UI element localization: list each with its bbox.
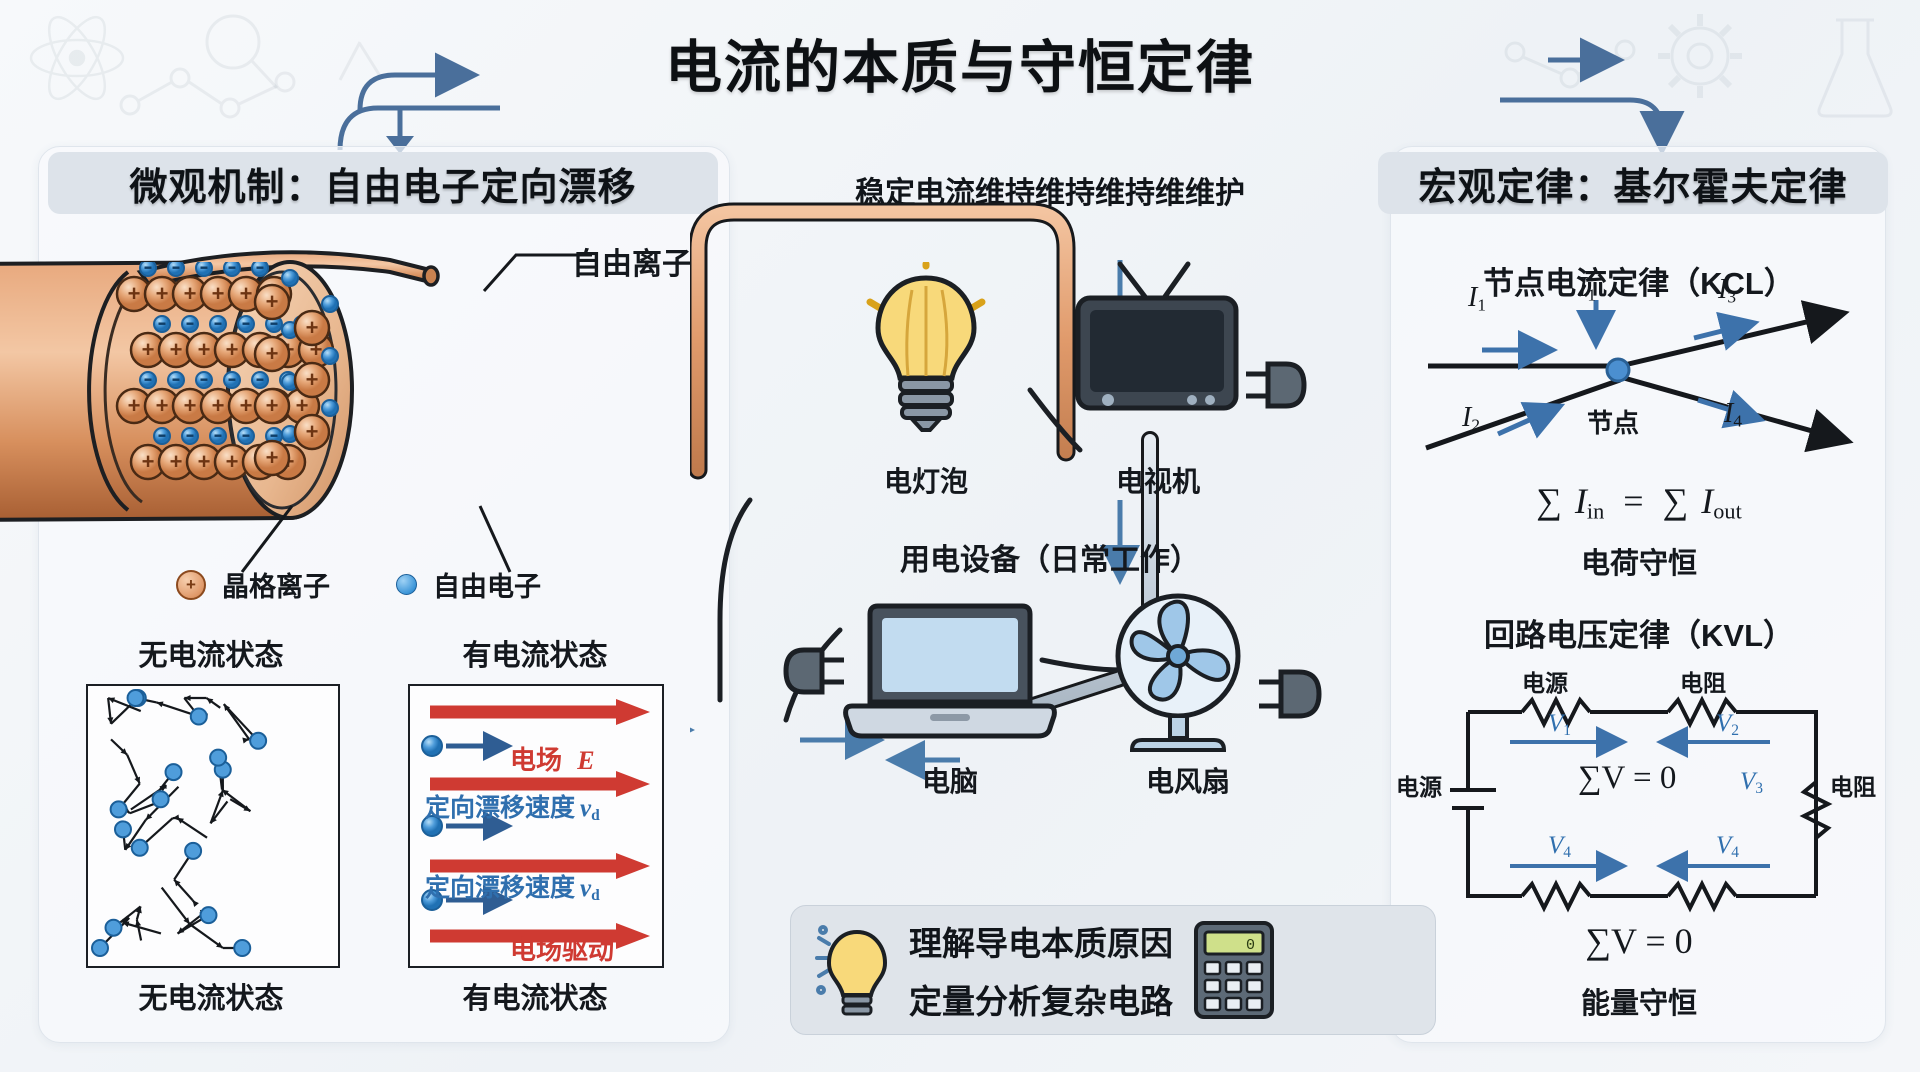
svg-text:+: +	[128, 393, 141, 418]
kvl-formula-inner: ∑V = 0	[1578, 760, 1676, 797]
kcl-node-diagram	[1420, 300, 1860, 470]
left-panel-header: 微观机制：自由电子定向漂移	[48, 152, 718, 214]
svg-text:+: +	[226, 449, 239, 474]
wire-legend: + 晶格离子 自由电子	[176, 565, 541, 604]
state-with-current-title-bottom: 有电流状态	[410, 975, 660, 1017]
kvl-title: 回路电压定律（KVL）	[1414, 610, 1864, 655]
kcl-current-label-i1b: I1	[1578, 272, 1596, 305]
with-current-state-box	[408, 684, 664, 968]
svg-text:+: +	[156, 393, 169, 418]
svg-text:+: +	[306, 419, 319, 444]
drift-velocity-label-2: 定向漂移速度vd	[425, 868, 600, 905]
state-with-current-title-top: 有电流状态	[410, 632, 660, 674]
svg-text:+: +	[226, 337, 239, 362]
svg-text:+: +	[142, 337, 155, 362]
svg-text:+: +	[170, 337, 183, 362]
state-no-current-title-bottom: 无电流状态	[86, 975, 336, 1017]
svg-text:+: +	[170, 449, 183, 474]
kvl-conservation-label: 能量守恒	[1414, 980, 1864, 1022]
kcl-current-label-i2: I2	[1462, 402, 1480, 435]
svg-text:+: +	[128, 281, 141, 306]
kvl-formula-outer: ∑V = 0	[1414, 920, 1864, 962]
svg-text:+: +	[266, 341, 279, 366]
kcl-current-label-i4: I4	[1724, 398, 1742, 431]
svg-text:+: +	[198, 337, 211, 362]
svg-text:+: +	[142, 449, 155, 474]
calculator-display: 0	[1246, 937, 1255, 954]
field-label-E: 电场 E⃗	[510, 740, 615, 777]
tv-plug-icon	[1242, 352, 1322, 422]
kvl-voltage-label-v4b: V4	[1716, 832, 1739, 862]
free-ion-callout-label: 自由离子	[572, 239, 692, 283]
state-no-current-title-top: 无电流状态	[86, 632, 336, 674]
svg-text:+: +	[266, 289, 279, 314]
kvl-voltage-label-v2: V2	[1716, 710, 1739, 740]
banner-line-2: 定量分析复杂电路	[909, 975, 1173, 1023]
device-label-television: 电视机	[1068, 460, 1248, 500]
positive-ion-icon: +	[176, 570, 206, 600]
summary-banner: 理解导电本质原因 定量分析复杂电路 0	[790, 905, 1436, 1035]
light-bulb-icon	[856, 262, 996, 432]
svg-text:+: +	[240, 281, 253, 306]
kvl-label-source-left: 电源	[1396, 768, 1442, 802]
device-label-fan: 电风扇	[1098, 760, 1278, 800]
svg-text:+: +	[156, 281, 169, 306]
legend-label-lattice-ion: 晶格离子	[222, 565, 330, 604]
kcl-node-label: 节点	[1587, 403, 1639, 440]
no-current-state-box	[86, 684, 340, 968]
svg-text:+: +	[184, 281, 197, 306]
svg-text:+: +	[212, 281, 225, 306]
svg-text:+: +	[212, 393, 225, 418]
svg-text:+: +	[198, 449, 211, 474]
field-drive-label: 电场驱动	[510, 930, 614, 967]
svg-text:+: +	[266, 393, 279, 418]
kvl-voltage-label-v4a: V4	[1548, 832, 1571, 862]
calculator-icon: 0	[1191, 918, 1277, 1022]
kcl-conservation-label: 电荷守恒	[1414, 540, 1864, 582]
appliance-section-caption: 用电设备（日常工作）	[780, 535, 1320, 579]
right-panel-header: 宏观定律：基尔霍夫定律	[1378, 152, 1888, 214]
laptop-plug-icon	[778, 640, 848, 708]
television-icon	[1060, 258, 1250, 438]
kvl-voltage-label-v1: V1	[1548, 710, 1571, 740]
kcl-current-label-i3: I3	[1718, 274, 1736, 307]
device-label-laptop: 电脑	[860, 760, 1040, 800]
kvl-circuit-diagram	[1450, 690, 1840, 920]
svg-text:+: +	[184, 393, 197, 418]
legend-leader-lines	[180, 500, 600, 575]
device-label-light-bulb: 电灯泡	[836, 460, 1016, 500]
random-motion-diagram	[88, 686, 334, 962]
drift-velocity-label-1: 定向漂移速度vd	[425, 788, 600, 825]
electric-fan-icon	[1090, 590, 1270, 765]
kvl-voltage-label-v3: V3	[1740, 768, 1763, 798]
banner-line-1: 理解导电本质原因	[909, 917, 1173, 965]
svg-text:+: +	[240, 393, 253, 418]
kcl-current-label-i1a: I1	[1468, 282, 1486, 315]
svg-text:+: +	[306, 315, 319, 340]
kcl-formula-sum2: ∑	[1663, 481, 1689, 521]
legend-label-free-electron: 自由电子	[433, 565, 541, 604]
svg-text:+: +	[306, 367, 319, 392]
fan-plug-icon	[1255, 660, 1335, 732]
laptop-icon	[840, 598, 1060, 748]
kcl-formula-equals: =	[1623, 481, 1643, 521]
svg-text:+: +	[266, 445, 279, 470]
kcl-formula-sum1: ∑	[1536, 481, 1562, 521]
kcl-formula: ∑ Iin = ∑ Iout	[1414, 480, 1864, 525]
free-electron-icon	[396, 574, 417, 595]
lightbulb-idea-icon	[813, 922, 891, 1018]
